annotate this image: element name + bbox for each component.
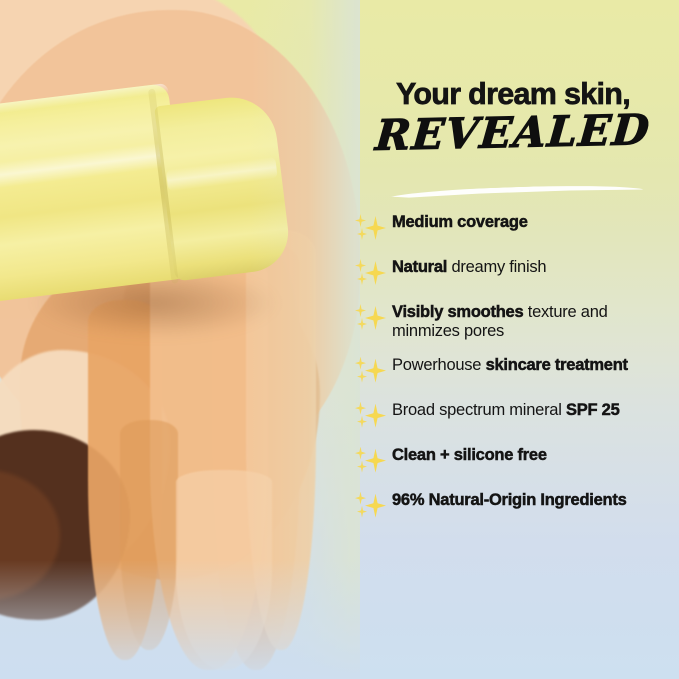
feature-text-bold: Natural bbox=[392, 258, 447, 276]
product-tube bbox=[0, 70, 301, 322]
feature-label: Natural dreamy finish bbox=[392, 257, 546, 277]
feature-item: Powerhouse skincare treatment bbox=[354, 355, 679, 387]
feature-list: Medium coverageNatural dreamy finishVisi… bbox=[354, 212, 679, 535]
sparkle-icon bbox=[354, 259, 386, 289]
sparkle-icon bbox=[354, 214, 386, 244]
feature-label: Medium coverage bbox=[392, 212, 528, 232]
sparkle-star bbox=[357, 371, 367, 383]
sparkle-star bbox=[355, 447, 366, 460]
feature-label: Clean + silicone free bbox=[392, 445, 547, 465]
sparkle-icon bbox=[354, 304, 386, 334]
sparkle-star bbox=[365, 404, 386, 428]
sparkle-icon bbox=[354, 492, 386, 522]
brush-underline-swoosh bbox=[382, 183, 650, 200]
sparkle-icon bbox=[354, 447, 386, 477]
sparkle-star bbox=[357, 318, 367, 330]
feature-text-regular: Powerhouse bbox=[392, 356, 486, 374]
feature-label: Broad spectrum mineral SPF 25 bbox=[392, 400, 620, 420]
feature-text-regular: Broad spectrum mineral bbox=[392, 401, 566, 419]
feature-item: Clean + silicone free bbox=[354, 445, 679, 477]
feature-text-regular: dreamy finish bbox=[447, 258, 546, 276]
feature-text-bold: Visibly smoothes bbox=[392, 303, 523, 321]
marketing-copy-panel: Your dream skin, REVEALED Medium coverag… bbox=[344, 0, 679, 679]
sparkle-star bbox=[355, 304, 366, 317]
sparkle-star bbox=[355, 214, 366, 227]
feature-text-bold: 96% Natural-Origin Ingredients bbox=[392, 491, 627, 509]
sparkle-star bbox=[365, 494, 386, 518]
feature-label: Powerhouse skincare treatment bbox=[392, 355, 628, 375]
sparkle-star bbox=[357, 506, 367, 518]
product-photo-area bbox=[0, 0, 360, 679]
feature-text-bold: Clean + silicone free bbox=[392, 446, 547, 464]
sparkle-star bbox=[357, 416, 367, 428]
sparkle-star bbox=[355, 357, 366, 370]
feature-item: 96% Natural-Origin Ingredients bbox=[354, 490, 679, 522]
sparkle-icon bbox=[354, 402, 386, 432]
feature-label: 96% Natural-Origin Ingredients bbox=[392, 490, 627, 510]
sparkle-icon bbox=[354, 357, 386, 387]
sparkle-star bbox=[355, 402, 366, 415]
headline-block: Your dream skin, REVEALED bbox=[348, 78, 678, 154]
sparkle-star bbox=[355, 492, 366, 505]
sparkle-star bbox=[365, 306, 386, 330]
sparkle-star bbox=[365, 261, 386, 285]
sparkle-star bbox=[357, 273, 367, 285]
feature-item: Medium coverage bbox=[354, 212, 679, 244]
sparkle-star bbox=[357, 461, 367, 473]
foundation-drip-e bbox=[120, 420, 178, 650]
sparkle-star bbox=[365, 449, 386, 473]
headline-line-2: REVEALED bbox=[346, 109, 679, 158]
feature-label: Visibly smoothes texture and minmizes po… bbox=[392, 302, 679, 342]
feature-item: Broad spectrum mineral SPF 25 bbox=[354, 400, 679, 432]
product-marketing-image: Your dream skin, REVEALED Medium coverag… bbox=[0, 0, 679, 679]
sparkle-star bbox=[365, 359, 386, 383]
sparkle-star bbox=[355, 259, 366, 272]
feature-item: Visibly smoothes texture and minmizes po… bbox=[354, 302, 679, 342]
sparkle-star bbox=[357, 228, 367, 240]
feature-item: Natural dreamy finish bbox=[354, 257, 679, 289]
feature-text-bold: skincare treatment bbox=[486, 356, 628, 374]
sparkle-star bbox=[365, 216, 386, 240]
feature-text-bold: Medium coverage bbox=[392, 213, 528, 231]
feature-text-bold: SPF 25 bbox=[566, 401, 620, 419]
foundation-drip-f bbox=[176, 470, 272, 670]
